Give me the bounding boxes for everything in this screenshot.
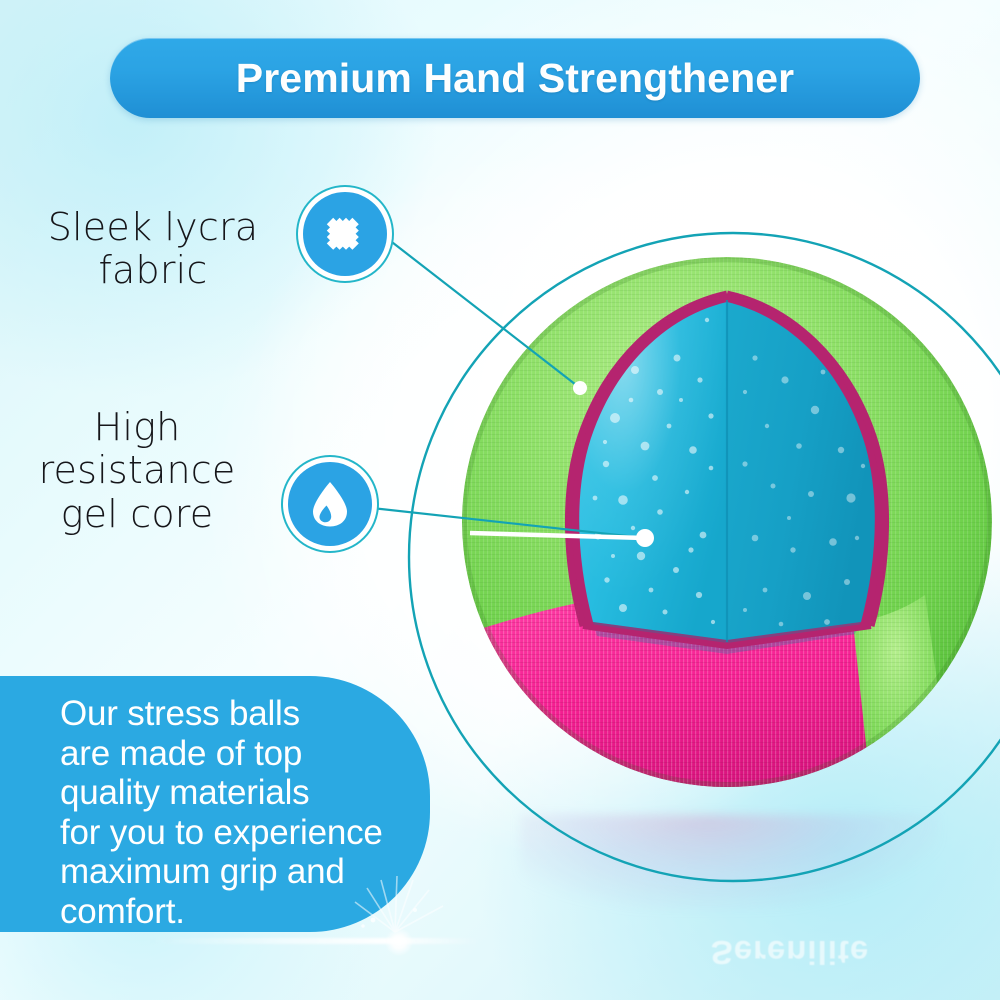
fabric-swatch-icon xyxy=(323,212,367,256)
feature-label-fabric: Sleek lycra fabric xyxy=(18,206,288,293)
lens-flare-streak xyxy=(150,938,480,944)
lens-flare-core xyxy=(385,928,413,956)
feature-label-gel: High resistance gel core xyxy=(8,406,266,536)
brand-watermark-reflection: Serenilite xyxy=(645,925,935,971)
product-image xyxy=(455,250,1000,830)
description-text: Our stress balls are made of top quality… xyxy=(60,694,440,931)
page-title-banner: Premium Hand Strengthener xyxy=(110,38,920,118)
page-title: Premium Hand Strengthener xyxy=(236,55,794,102)
feature-badge-gel xyxy=(288,462,372,546)
infographic-canvas: Premium Hand Strengthener Sleek lycra fa… xyxy=(0,0,1000,1000)
water-droplet-icon xyxy=(309,479,351,529)
feature-badge-fabric xyxy=(303,192,387,276)
